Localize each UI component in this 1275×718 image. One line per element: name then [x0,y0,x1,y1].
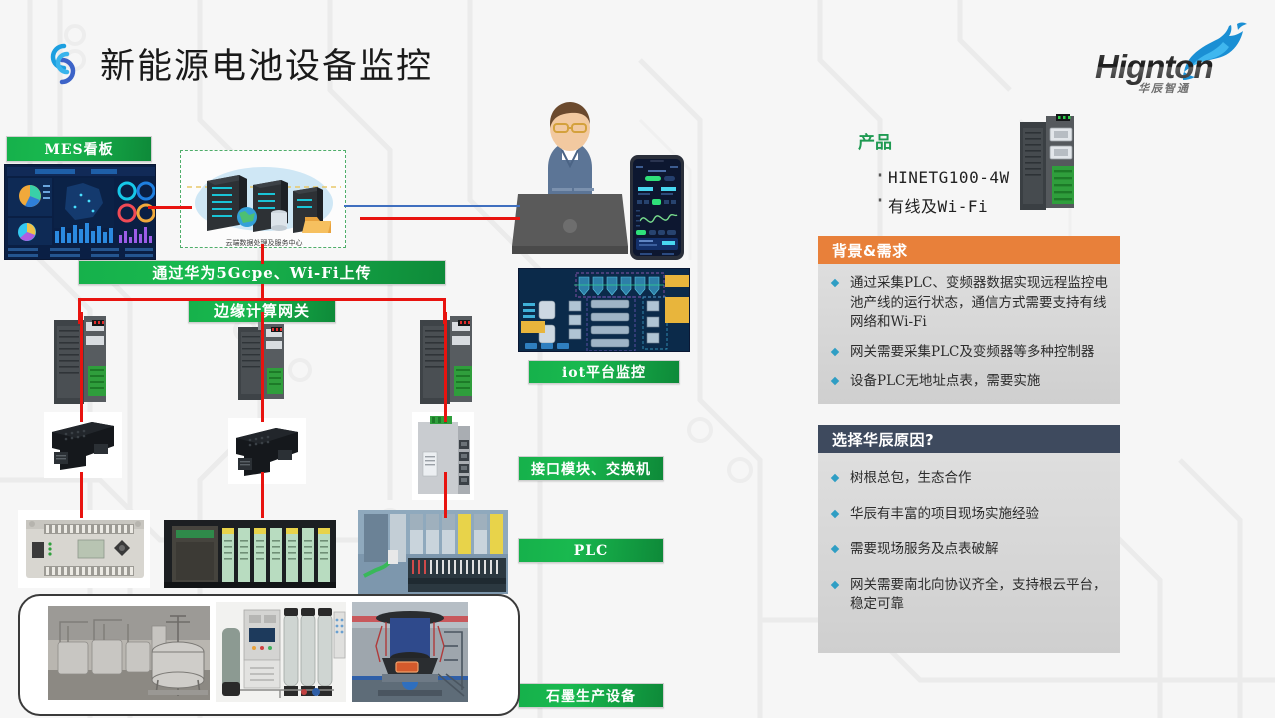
cloud-data-center-illustration: 云端数据处理及服务中心 [180,150,346,248]
slide-canvas: 新能源电池设备监控 Hignton 华辰智通 MES看板 [0,0,1275,718]
ethernet-switch [412,412,474,500]
hinetg100-gateway-photo [1018,114,1076,214]
label-graphite-equipment: 石墨生产设备 [518,683,664,708]
label-plc: PLC [518,538,664,563]
background-item: 网关需要采集PLC及变频器等多种控制器 [828,343,1108,363]
reason-item: 树根总包，生态合作 [828,469,1108,489]
reactor-tanks-photo [48,606,210,700]
water-treatment-photo [216,602,346,702]
connector-cloud-down [261,244,264,264]
reason-item: 网关需要南北向协议齐全，支持根云平台，稳定可靠 [828,576,1108,615]
mes-dashboard-thumbnail [4,164,156,260]
connector-gw3-down [444,312,447,422]
connector-bus-horizontal [78,298,446,301]
label-interface-switch: 接口模块、交换机 [518,456,664,481]
label-iot-platform: iot平台监控 [528,360,680,384]
svg-text:云端数据处理及服务中心: 云端数据处理及服务中心 [226,238,303,247]
slide-header: 新能源电池设备监控 Hignton 华辰智通 [0,0,1275,112]
connector-if1-down [80,472,83,518]
reason-item: 华辰有丰富的项目现场实施经验 [828,505,1108,525]
reason-item: 需要现场服务及点表破解 [828,540,1108,560]
iot-scada-screen-thumbnail [518,268,690,352]
connector-operator-to-right [360,217,520,220]
connector-mes-to-cloud [148,206,192,209]
plc-device-1 [18,510,150,588]
background-panel-body: 通过采集PLC、变频器数据实现远程监控电池产线的运行状态，通信方式需要支持有线网… [818,264,1120,404]
connector-gw1-down [80,312,83,422]
product-section-title: 产品 [858,128,892,153]
plc-device-2 [164,520,336,588]
operator-with-laptop-illustration [508,94,640,264]
brand-logo: Hignton 华辰智通 [1095,22,1245,94]
mobile-dashboard-illustration [630,155,684,260]
background-requirements-panel: 背景&需求 通过采集PLC、变频器数据实现远程监控电池产线的运行状态，通信方式需… [818,236,1120,404]
product-item: HINETG100-4W [868,168,1118,187]
connector-gw2-down [261,312,264,422]
reason-panel: 选择华辰原因? 树根总包，生态合作 华辰有丰富的项目现场实施经验 需要现场服务及… [818,425,1120,653]
page-title: 新能源电池设备监控 [100,38,433,89]
interlocking-circles-logo [40,40,88,88]
background-item: 通过采集PLC、变频器数据实现远程监控电池产线的运行状态，通信方式需要支持有线网… [828,274,1108,333]
product-item: 有线及Wi-Fi [868,193,1118,217]
reason-panel-body: 树根总包，生态合作 华辰有丰富的项目现场实施经验 需要现场服务及点表破解 网关需… [818,453,1120,653]
interface-module-1 [44,412,122,478]
architecture-diagram: MES看板 [0,112,760,718]
plc-device-3 [358,510,508,594]
label-mes-board: MES看板 [6,136,152,162]
interface-module-2 [228,418,306,484]
background-panel-heading: 背景&需求 [818,236,1120,264]
background-item: 设备PLC无地址点表，需要实施 [828,372,1108,392]
brand-name-cn: 华辰智通 [1138,80,1190,96]
reason-panel-heading: 选择华辰原因? [818,425,1120,453]
connector-cloud-to-operator [344,205,520,207]
connector-if3-down [444,472,447,518]
connector-if2-down [261,472,264,518]
graphite-furnace-photo [352,602,468,702]
